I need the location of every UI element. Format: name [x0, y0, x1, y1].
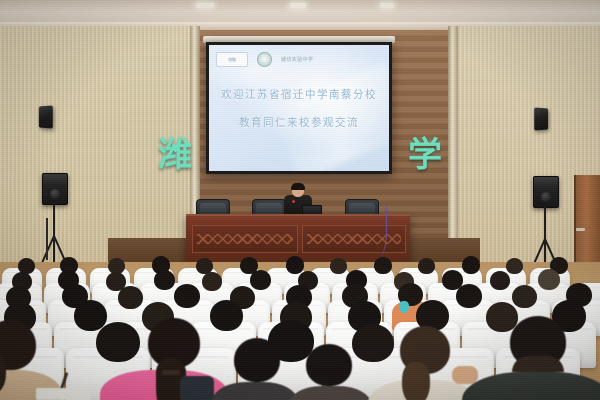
- school-crest-icon: [257, 52, 272, 67]
- slide-line-1: 欢迎江苏省宿迁中学南蔡分校: [209, 87, 389, 103]
- notebook: [36, 388, 90, 400]
- microphone-cable: [372, 206, 387, 256]
- slide-logo-row: 校徽 潍坊实验中学: [216, 51, 382, 68]
- wall-mounted-speaker: [39, 105, 53, 128]
- ceiling-light: [290, 3, 306, 8]
- ceiling-light: [196, 3, 214, 8]
- door-handle-icon[interactable]: [576, 228, 585, 231]
- slide-line-2: 教育同仁来校参观交流: [209, 115, 389, 131]
- ceiling-light: [380, 3, 394, 8]
- wall-mounted-speaker: [534, 107, 548, 130]
- slide-logo-text: 潍坊实验中学: [281, 56, 313, 63]
- auditorium-photo: 潍 坊 实 验 中 学 校徽 潍坊实验中学 欢迎江苏省宿迁中学南蔡分校 教育同仁…: [0, 0, 600, 400]
- microphone-stand: [46, 218, 48, 260]
- projection-screen: 校徽 潍坊实验中学 欢迎江苏省宿迁中学南蔡分校 教育同仁来校参观交流: [206, 42, 392, 174]
- slide-text: 欢迎江苏省宿迁中学南蔡分校 教育同仁来校参观交流: [209, 87, 389, 143]
- speaker-badge: [292, 200, 295, 203]
- slide-logo-box: 校徽: [216, 52, 248, 67]
- hand: [452, 366, 478, 384]
